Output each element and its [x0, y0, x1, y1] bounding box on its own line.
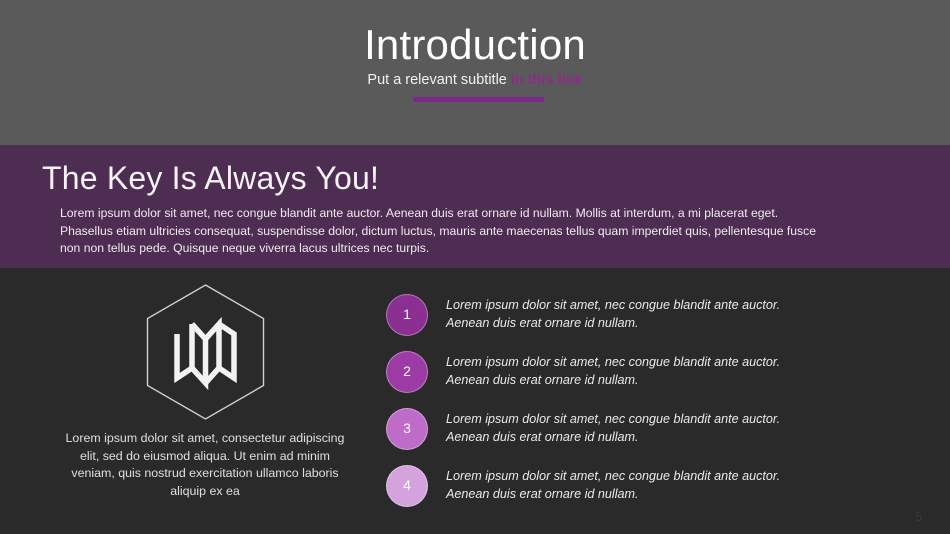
list-item-text-1: Lorem ipsum dolor sit amet, nec congue b…: [446, 296, 801, 332]
hexagon-outline: [143, 282, 268, 422]
list-item[interactable]: 3 Lorem ipsum dolor sit amet, nec congue…: [386, 408, 806, 465]
number-badge-2: 2: [386, 351, 428, 393]
list-item[interactable]: 4 Lorem ipsum dolor sit amet, nec congue…: [386, 465, 806, 522]
header-subtitle: Put a relevant subtitle in this line: [0, 70, 950, 90]
slide-header: Introduction Put a relevant subtitle in …: [0, 0, 950, 145]
band-heading: The Key Is Always You!: [42, 156, 379, 200]
highlight-band: The Key Is Always You! Lorem ipsum dolor…: [0, 145, 950, 268]
list-item-text-3: Lorem ipsum dolor sit amet, nec congue b…: [446, 410, 801, 446]
subtitle-plain-text: Put a relevant subtitle: [367, 72, 510, 88]
band-paragraph: Lorem ipsum dolor sit amet, nec congue b…: [60, 205, 820, 258]
left-caption: Lorem ipsum dolor sit amet, consectetur …: [65, 430, 345, 500]
list-item-text-4: Lorem ipsum dolor sit amet, nec congue b…: [446, 467, 801, 503]
slide: Introduction Put a relevant subtitle in …: [0, 0, 950, 534]
page-title: Introduction: [0, 18, 950, 72]
number-badge-4: 4: [386, 465, 428, 507]
left-content-column: Lorem ipsum dolor sit amet, consectetur …: [65, 282, 345, 500]
header-accent-bar: [413, 97, 544, 102]
subtitle-accent-text: in this line: [511, 72, 583, 88]
folded-map-icon: [177, 324, 234, 383]
numbered-list: 1 Lorem ipsum dolor sit amet, nec congue…: [386, 294, 806, 522]
list-item[interactable]: 2 Lorem ipsum dolor sit amet, nec congue…: [386, 351, 806, 408]
hexagon-icon-group: [143, 282, 268, 422]
page-number: 5: [915, 510, 922, 524]
number-badge-1: 1: [386, 294, 428, 336]
list-item[interactable]: 1 Lorem ipsum dolor sit amet, nec congue…: [386, 294, 806, 351]
number-badge-3: 3: [386, 408, 428, 450]
list-item-text-2: Lorem ipsum dolor sit amet, nec congue b…: [446, 353, 801, 389]
